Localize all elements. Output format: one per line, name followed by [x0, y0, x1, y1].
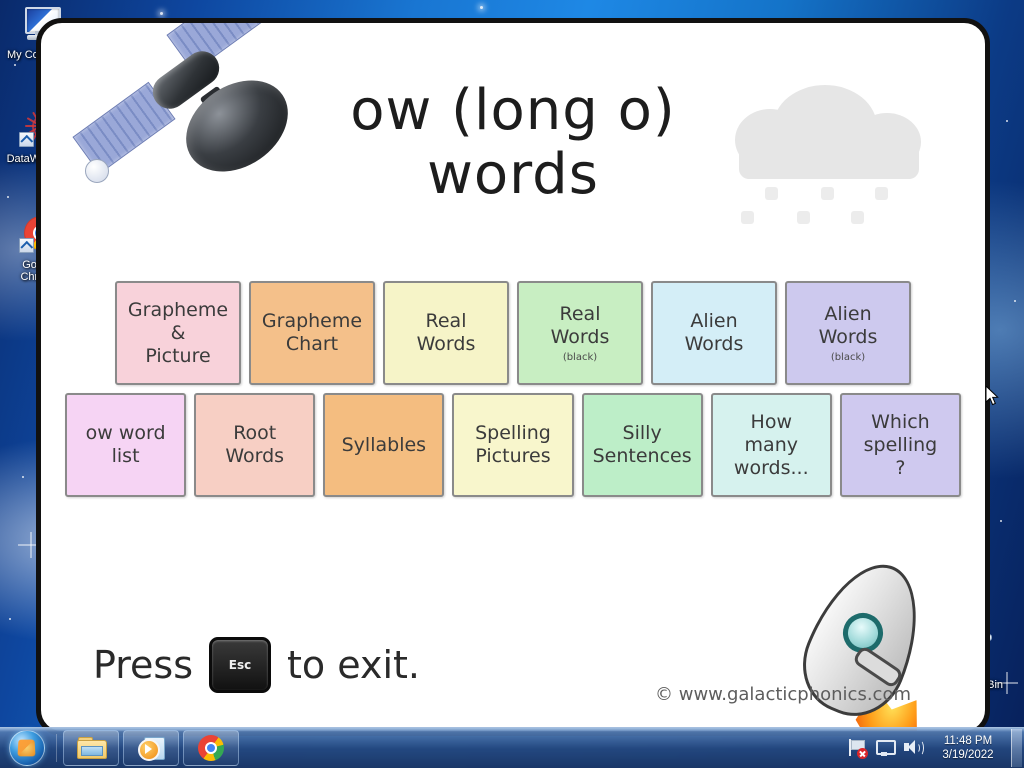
activity-button-how-many-words[interactable]: How many words...: [711, 393, 832, 497]
chrome-icon: [198, 735, 224, 761]
button-line-1: Which: [871, 411, 930, 434]
button-line-1: Syllables: [342, 434, 426, 457]
button-line-2: Chart: [286, 333, 338, 356]
esc-key-icon[interactable]: Esc: [209, 637, 271, 693]
to-exit-label: to exit.: [287, 643, 420, 687]
exit-instruction: Press Esc to exit.: [93, 637, 420, 693]
button-sublabel: (black): [831, 352, 865, 364]
button-line-1: Real: [560, 303, 601, 326]
rocket-icon: [787, 555, 977, 736]
desktop[interactable]: My Computer DataWagon... Google Chrome R…: [0, 0, 1024, 768]
activity-row-1: Grapheme & Picture Grapheme Chart Real W…: [65, 281, 961, 385]
button-line-2: Sentences: [593, 445, 692, 468]
monitor-icon[interactable]: [874, 737, 896, 759]
button-line-1: Alien: [690, 310, 737, 333]
windows-logo-icon: [9, 730, 45, 766]
clock-date: 3/19/2022: [935, 748, 1001, 762]
phonics-slide-window[interactable]: ow (long o) words Grapheme & Picture Gra…: [36, 18, 990, 736]
button-line-1: Real: [426, 310, 467, 333]
button-line-1: Grapheme: [262, 310, 362, 333]
button-line-1: Grapheme: [128, 299, 228, 322]
activity-button-grid: Grapheme & Picture Grapheme Chart Real W…: [65, 281, 961, 505]
activity-button-real-words-black[interactable]: Real Words (black): [517, 281, 643, 385]
button-line-2: Words: [225, 445, 284, 468]
star: [1006, 120, 1008, 122]
cloud-snow-icon: [725, 75, 935, 215]
activity-button-real-words[interactable]: Real Words: [383, 281, 509, 385]
activity-button-alien-words[interactable]: Alien Words: [651, 281, 777, 385]
system-tray: 11:48 PM 3/19/2022: [843, 728, 1024, 768]
star: [14, 64, 16, 66]
start-button[interactable]: [2, 730, 52, 766]
button-line-1: Spelling: [475, 422, 551, 445]
button-line-2: list: [112, 445, 140, 468]
shortcut-arrow-icon: [19, 238, 34, 253]
copyright-text: © www.galacticphonics.com: [655, 684, 911, 705]
star: [1000, 520, 1002, 522]
folder-icon: [77, 737, 105, 759]
button-line-2: Words: [417, 333, 476, 356]
taskbar-button-google-chrome[interactable]: [183, 730, 239, 766]
button-line-1: Root: [233, 422, 276, 445]
activity-button-alien-words-black[interactable]: Alien Words (black): [785, 281, 911, 385]
button-line-1: How: [751, 411, 792, 434]
star: [9, 618, 11, 620]
button-line-2: spelling: [864, 434, 938, 457]
star: [480, 6, 483, 9]
star: [160, 12, 163, 15]
activity-button-ow-word-list[interactable]: ow word list: [65, 393, 186, 497]
media-player-icon: [138, 736, 164, 760]
activity-button-grapheme-picture[interactable]: Grapheme & Picture: [115, 281, 241, 385]
shortcut-arrow-icon: [19, 132, 34, 147]
speaker-icon[interactable]: [902, 737, 924, 759]
taskbar[interactable]: 11:48 PM 3/19/2022: [0, 727, 1024, 768]
activity-row-2: ow word list Root Words Syllables: [65, 393, 961, 497]
button-line-1: Alien: [824, 303, 871, 326]
taskbar-divider: [56, 734, 57, 762]
activity-button-spelling-pictures[interactable]: Spelling Pictures: [452, 393, 573, 497]
button-line-2: Words: [551, 326, 610, 349]
button-line-2: Pictures: [475, 445, 550, 468]
activity-button-which-spelling[interactable]: Which spelling ?: [840, 393, 961, 497]
activity-button-syllables[interactable]: Syllables: [323, 393, 444, 497]
button-line-2: Words: [685, 333, 744, 356]
taskbar-button-windows-explorer[interactable]: [63, 730, 119, 766]
button-line-2: &: [171, 322, 186, 345]
star: [22, 476, 24, 478]
press-label: Press: [93, 643, 193, 687]
activity-button-silly-sentences[interactable]: Silly Sentences: [582, 393, 703, 497]
clock-time: 11:48 PM: [935, 734, 1001, 748]
button-line-1: ow word: [86, 422, 166, 445]
button-line-2: many: [745, 434, 798, 457]
button-sublabel: (black): [563, 352, 597, 364]
button-line-3: Picture: [145, 345, 210, 368]
button-line-3: words...: [734, 457, 809, 480]
taskbar-button-windows-media-player[interactable]: [123, 730, 179, 766]
show-desktop-button[interactable]: [1011, 729, 1022, 767]
button-line-2: Words: [819, 326, 878, 349]
activity-button-grapheme-chart[interactable]: Grapheme Chart: [249, 281, 375, 385]
activity-button-root-words[interactable]: Root Words: [194, 393, 315, 497]
button-line-1: Silly: [623, 422, 662, 445]
network-flag-icon[interactable]: [846, 737, 868, 759]
star: [7, 196, 9, 198]
star: [1014, 300, 1016, 302]
satellite-icon: [75, 18, 305, 217]
button-line-3: ?: [895, 457, 905, 480]
taskbar-clock[interactable]: 11:48 PM 3/19/2022: [927, 734, 1009, 762]
